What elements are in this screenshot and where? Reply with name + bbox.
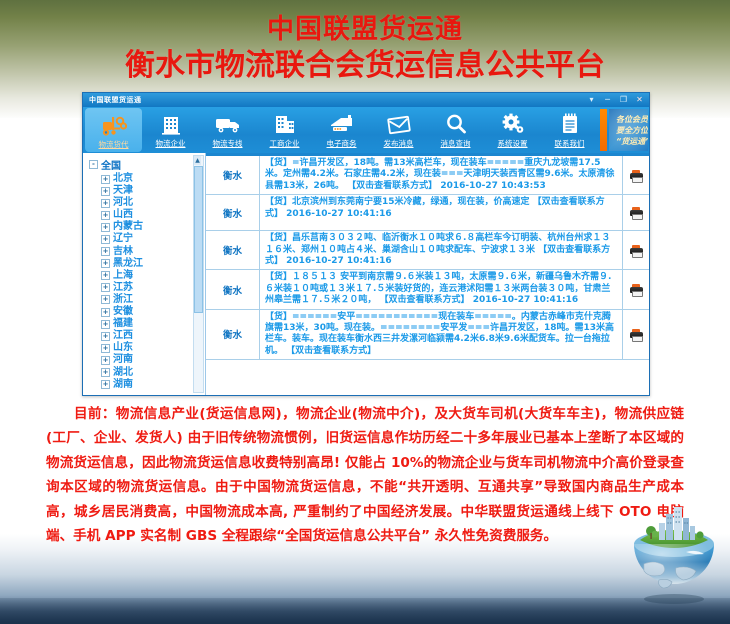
toolbar-item-logistics-line[interactable]: 物流专线 — [199, 107, 256, 153]
sidebar-label-beijing: 北京 — [113, 173, 133, 185]
expand-toggle-icon[interactable]: + — [101, 259, 110, 268]
page-title: 中国联盟货运通 衡水市物流联合会货运信息公共平台 — [0, 14, 730, 86]
window-menu-button[interactable]: ▾ — [584, 95, 599, 106]
toolbar-item-message-search[interactable]: 消息查询 — [427, 107, 484, 153]
toolbar-label-publish-message: 发布消息 — [384, 138, 414, 149]
office-building-icon — [273, 110, 297, 137]
sidebar-label-shanxi: 山西 — [113, 209, 133, 221]
sidebar-item-tianjin[interactable]: +天津 — [87, 185, 205, 197]
expand-toggle-icon[interactable]: + — [101, 283, 110, 292]
expand-toggle-icon[interactable]: + — [101, 380, 110, 389]
truck-icon — [214, 110, 242, 137]
toolbar-label-logistics-company: 物流企业 — [156, 138, 186, 149]
sidebar-label-hebei: 河北 — [113, 197, 133, 209]
row-city: 衡水 — [206, 270, 260, 308]
sidebar-item-nationwide[interactable]: - 全国 — [87, 156, 205, 173]
row-message-text: 【货】======安平===========现在装车=====。内蒙古赤峰市克什… — [265, 312, 614, 356]
toolbar-orange-divider — [600, 109, 607, 151]
sidebar-label-shanghai: 上海 — [113, 270, 133, 282]
main-toolbar: 物流货代 物流企业 — [83, 107, 649, 153]
expand-toggle-icon[interactable]: + — [101, 223, 110, 232]
sidebar-label-heilongjiang: 黑龙江 — [113, 258, 143, 270]
table-row[interactable]: 衡水 【货】１８５１３ 安平到南京需９.６米装１３吨，太原需９.６米，新疆乌鲁木… — [206, 270, 649, 309]
row-city: 衡水 — [206, 231, 260, 269]
description-text: 目前：物流信息产业(货运信息网)，物流企业(物流中介)，及大货车司机(大货车车主… — [46, 402, 684, 548]
sidebar-item-shandong[interactable]: +山东 — [87, 342, 205, 354]
row-message[interactable]: 【货】昌乐莒南３０３２吨、临沂衡水１０吨求６.８高栏车今订明装、杭州台州求１３１… — [260, 231, 622, 269]
sidebar-item-hubei[interactable]: +湖北 — [87, 367, 205, 379]
row-city: 衡水 — [206, 310, 260, 360]
row-message[interactable]: 【货】=许昌开发区，18吨。需13米高栏车，现在装车=====重庆九龙坡需17.… — [260, 156, 622, 194]
row-action-cell[interactable] — [622, 310, 649, 360]
sidebar-label-jiangsu: 江苏 — [113, 282, 133, 294]
sidebar-label-hunan: 湖南 — [113, 379, 133, 391]
toolbar-item-publish-message[interactable]: 发布消息 — [370, 107, 427, 153]
page-title-line-1: 中国联盟货运通 — [0, 14, 730, 46]
toolbar-label-logistics-line: 物流专线 — [213, 138, 243, 149]
row-timestamp: 2016-10-27 10:41:16 — [473, 295, 578, 305]
row-message[interactable]: 【货】１８５１３ 安平到南京需９.６米装１３吨，太原需９.６米，新疆乌鲁木齐需９… — [260, 270, 622, 308]
expand-toggle-icon[interactable]: + — [101, 199, 110, 208]
window-title: 中国联盟货运通 — [89, 95, 142, 105]
sidebar-label-inner-mongolia: 内蒙古 — [113, 221, 143, 233]
row-timestamp: 2016-10-27 10:41:16 — [286, 209, 391, 219]
toolbar-item-industrial-company[interactable]: 工商企业 — [256, 107, 313, 153]
sidebar-item-shanghai[interactable]: +上海 — [87, 270, 205, 282]
sidebar-item-shanxi[interactable]: +山西 — [87, 209, 205, 221]
toolbar-label-contact-us: 联系我们 — [555, 138, 585, 149]
row-action-cell[interactable] — [622, 195, 649, 230]
expand-toggle-icon[interactable]: + — [101, 332, 110, 341]
sidebar-item-fujian[interactable]: +福建 — [87, 318, 205, 330]
printer-icon[interactable] — [630, 284, 643, 295]
earth-globe-decoration — [626, 502, 722, 606]
banner-line-1: 各位会员 — [616, 114, 648, 125]
toolbar-label-logistics-agent: 物流货代 — [99, 139, 129, 150]
sidebar-item-jiangxi[interactable]: +江西 — [87, 330, 205, 342]
toolbar-label-message-search: 消息查询 — [441, 138, 471, 149]
region-tree-sidebar: - 全国 +北京 +天津 +河北 +山西 +内蒙古 +辽宁 +吉林 +黑龙江 +… — [83, 153, 206, 395]
toolbar-item-logistics-agent[interactable]: 物流货代 — [85, 108, 142, 152]
sidebar-item-hunan[interactable]: +湖南 — [87, 379, 205, 391]
expand-toggle-icon[interactable]: + — [101, 308, 110, 317]
expand-toggle-icon[interactable]: + — [101, 235, 110, 244]
expand-toggle-icon[interactable]: + — [101, 247, 110, 256]
expand-toggle-icon[interactable]: + — [101, 368, 110, 377]
printer-icon[interactable] — [630, 245, 643, 256]
row-message[interactable]: 【货】======安平===========现在装车=====。内蒙古赤峰市克什… — [260, 310, 622, 360]
row-message[interactable]: 【货】北京滨州到东莞南宁要15米冷藏，绿通，现在装，价高速定 【双击查看联系方式… — [260, 195, 622, 230]
freight-message-list[interactable]: 衡水 【货】=许昌开发区，18吨。需13米高栏车，现在装车=====重庆九龙坡需… — [206, 153, 649, 395]
sidebar-item-hebei[interactable]: +河北 — [87, 197, 205, 209]
expand-toggle-icon[interactable]: + — [101, 356, 110, 365]
expand-toggle-icon[interactable]: + — [101, 271, 110, 280]
sidebar-label-henan: 河南 — [113, 354, 133, 366]
expand-toggle-icon[interactable]: + — [101, 295, 110, 304]
sidebar-item-anhui[interactable]: +安徽 — [87, 306, 205, 318]
window-titlebar: 中国联盟货运通 ▾ ─ ❐ ✕ — [83, 93, 649, 107]
expand-toggle-icon[interactable]: + — [101, 175, 110, 184]
sidebar-item-jiangsu[interactable]: +江苏 — [87, 282, 205, 294]
sidebar-item-zhejiang[interactable]: +浙江 — [87, 294, 205, 306]
building-icon — [159, 110, 183, 137]
member-notice-banner[interactable]: 各位会员 要全方位测试 “货运通”功能! — [609, 109, 648, 151]
printer-icon[interactable] — [630, 329, 643, 340]
gear-icon — [500, 110, 526, 137]
printer-icon[interactable] — [630, 207, 643, 218]
row-city: 衡水 — [206, 156, 260, 194]
row-city: 衡水 — [206, 195, 260, 230]
banner-line-2: 要全方位测试 — [616, 125, 648, 136]
forklift-icon — [101, 111, 127, 138]
banner-line-3: “货运通”功能! — [616, 136, 648, 147]
expand-toggle-icon[interactable]: + — [101, 187, 110, 196]
sidebar-item-heilongjiang[interactable]: +黑龙江 — [87, 258, 205, 270]
row-action-cell[interactable] — [622, 156, 649, 194]
sidebar-label-jiangxi: 江西 — [113, 330, 133, 342]
search-icon — [444, 110, 468, 137]
window-close-button[interactable]: ✕ — [632, 95, 647, 106]
sidebar-item-henan[interactable]: +河南 — [87, 354, 205, 366]
toolbar-label-system-settings: 系统设置 — [498, 138, 528, 149]
toolbar-item-logistics-company[interactable]: 物流企业 — [142, 107, 199, 153]
window-body: - 全国 +北京 +天津 +河北 +山西 +内蒙古 +辽宁 +吉林 +黑龙江 +… — [83, 153, 649, 395]
window-maximize-button[interactable]: ❐ — [616, 95, 631, 106]
toolbar-item-system-settings[interactable]: 系统设置 — [484, 107, 541, 153]
toolbar-label-industrial-company: 工商企业 — [270, 138, 300, 149]
application-window: 中国联盟货运通 ▾ ─ ❐ ✕ 物流货代 — [82, 92, 650, 396]
sidebar-label-tianjin: 天津 — [113, 185, 133, 197]
sidebar-label-fujian: 福建 — [113, 318, 133, 330]
sidebar-scrollbar[interactable]: ▲ — [193, 155, 204, 393]
document-icon — [559, 110, 581, 137]
toolbar-item-contact-us[interactable]: 联系我们 — [541, 107, 598, 153]
table-row[interactable]: 衡水 【货】昌乐莒南３０３２吨、临沂衡水１０吨求６.８高栏车今订明装、杭州台州求… — [206, 231, 649, 270]
collapse-toggle-icon[interactable]: - — [89, 160, 98, 169]
expand-toggle-icon[interactable]: + — [101, 211, 110, 220]
description-paragraph: 目前：物流信息产业(货运信息网)，物流企业(物流中介)，及大货车司机(大货车车主… — [0, 402, 730, 548]
ecommerce-icon — [328, 110, 355, 137]
row-timestamp: 2016-10-27 10:41:16 — [286, 256, 391, 266]
row-timestamp: 2016-10-27 10:43:53 — [440, 181, 545, 191]
scroll-up-arrow-icon[interactable]: ▲ — [194, 156, 201, 165]
row-action-cell[interactable] — [622, 270, 649, 308]
toolbar-label-ecommerce: 电子商务 — [327, 138, 357, 149]
sidebar-label-shandong: 山东 — [113, 342, 133, 354]
table-row[interactable]: 衡水 【货】======安平===========现在装车=====。内蒙古赤峰… — [206, 310, 649, 361]
row-action-cell[interactable] — [622, 231, 649, 269]
sidebar-item-inner-mongolia[interactable]: +内蒙古 — [87, 221, 205, 233]
sidebar-label-zhejiang: 浙江 — [113, 294, 133, 306]
sidebar-label-nationwide: 全国 — [101, 157, 121, 172]
table-row[interactable]: 衡水 【货】=许昌开发区，18吨。需13米高栏车，现在装车=====重庆九龙坡需… — [206, 156, 649, 195]
sidebar-label-liaoning: 辽宁 — [113, 233, 133, 245]
printer-icon[interactable] — [630, 170, 643, 181]
window-minimize-button[interactable]: ─ — [600, 95, 615, 106]
sidebar-label-hubei: 湖北 — [113, 367, 133, 379]
sidebar-item-liaoning[interactable]: +辽宁 — [87, 233, 205, 245]
expand-toggle-icon[interactable]: + — [101, 344, 110, 353]
envelope-icon — [386, 110, 412, 137]
toolbar-item-ecommerce[interactable]: 电子商务 — [313, 107, 370, 153]
sidebar-item-jilin[interactable]: +吉林 — [87, 246, 205, 258]
page-title-line-2: 衡水市物流联合会货运信息公共平台 — [0, 46, 730, 86]
sidebar-item-beijing[interactable]: +北京 — [87, 173, 205, 185]
sidebar-label-jilin: 吉林 — [113, 246, 133, 258]
table-row[interactable]: 衡水 【货】北京滨州到东莞南宁要15米冷藏，绿通，现在装，价高速定 【双击查看联… — [206, 195, 649, 231]
scrollbar-thumb[interactable] — [194, 166, 203, 313]
sidebar-label-anhui: 安徽 — [113, 306, 133, 318]
expand-toggle-icon[interactable]: + — [101, 320, 110, 329]
